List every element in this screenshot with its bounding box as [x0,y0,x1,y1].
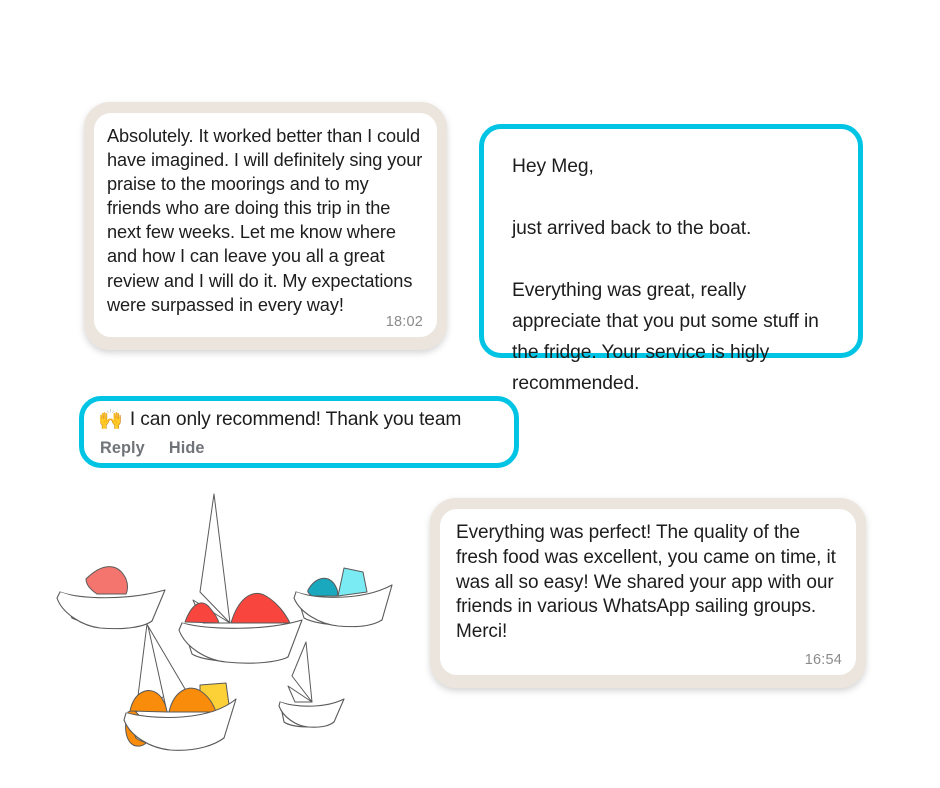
message-timestamp-absolutely: 18:02 [386,314,423,330]
boat-red-tall-center [179,494,302,663]
message-bubble-inner: Absolutely. It worked better than I coul… [94,113,437,337]
message-text-absolutely: Absolutely. It worked better than I coul… [107,124,424,317]
message-text-hey-meg: Hey Meg, just arrived back to the boat. … [512,151,834,399]
testimonial-collage: Absolutely. It worked better than I coul… [0,0,940,788]
boat-cyan-right [294,568,392,627]
message-bubble-recommend: 🙌 I can only recommend! Thank you team R… [79,396,519,468]
message-bubble-perfect: Everything was perfect! The quality of t… [430,498,866,688]
message-bubble-absolutely: Absolutely. It worked better than I coul… [84,102,447,350]
hide-link[interactable]: Hide [169,439,205,458]
paper-boats-illustration [40,480,400,770]
message-text-recommend: I can only recommend! Thank you team [130,408,461,432]
message-bubble-hey-meg: Hey Meg, just arrived back to the boat. … [479,124,863,358]
boat-red-small-left [57,567,165,629]
message-bubble-inner: Everything was perfect! The quality of t… [440,509,856,675]
message-timestamp-perfect: 16:54 [805,652,842,668]
reply-link[interactable]: Reply [100,439,145,458]
recommend-text-row: 🙌 I can only recommend! Thank you team [98,408,502,432]
message-text-perfect: Everything was perfect! The quality of t… [456,521,842,645]
raised-hands-icon: 🙌 [98,410,123,430]
recommend-actions: Reply Hide [100,439,502,458]
